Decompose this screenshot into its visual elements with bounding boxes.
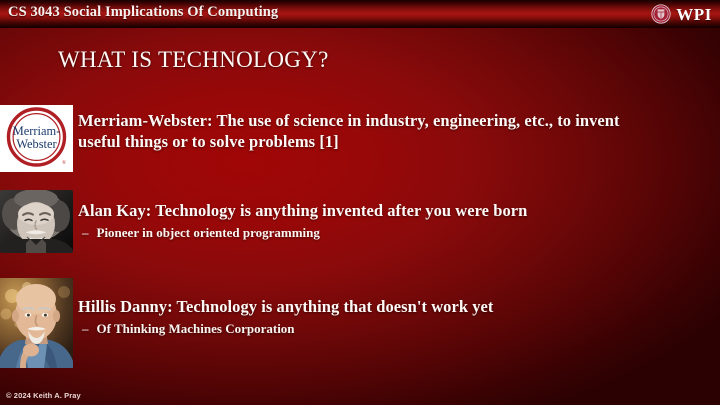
slide-canvas: CS 3043 Social Implications Of Computing… [0, 0, 720, 405]
merriam-webster-logo-icon: Merriam- Webster ® [0, 105, 73, 172]
wpi-logo: WPI [651, 2, 712, 26]
course-title: CS 3043 Social Implications Of Computing [8, 4, 278, 21]
alan-kay-quote-block: Alan Kay: Technology is anything invente… [78, 200, 668, 242]
alan-kay-quote-text: Alan Kay: Technology is anything invente… [78, 200, 668, 221]
merriam-webster-definition-text: Merriam-Webster: The use of science in i… [78, 110, 658, 152]
dash-bullet-icon: – [82, 320, 89, 338]
merriam-webster-definition-block: Merriam-Webster: The use of science in i… [78, 110, 658, 152]
merriam-webster-text-line1: Merriam- [13, 124, 60, 138]
hillis-danny-sub-bullet-text: Of Thinking Machines Corporation [97, 320, 295, 338]
hillis-danny-photo-icon [0, 278, 73, 368]
hillis-danny-quote-text: Hillis Danny: Technology is anything tha… [78, 296, 638, 317]
alan-kay-photo [0, 190, 73, 253]
hillis-danny-quote-block: Hillis Danny: Technology is anything tha… [78, 296, 638, 338]
slide-title: WHAT IS TECHNOLOGY? [58, 47, 329, 73]
dash-bullet-icon: – [82, 224, 89, 242]
copyright-notice: © 2024 Keith A. Pray [6, 391, 81, 400]
hillis-danny-sub-bullet: – Of Thinking Machines Corporation [78, 320, 638, 338]
alan-kay-sub-bullet: – Pioneer in object oriented programming [78, 224, 668, 242]
alan-kay-sub-bullet-text: Pioneer in object oriented programming [97, 224, 320, 242]
merriam-webster-text-line2: Webster [16, 137, 57, 151]
merriam-webster-logo: Merriam- Webster ® [0, 105, 73, 172]
registered-mark: ® [62, 160, 66, 166]
hillis-danny-photo [0, 278, 73, 368]
alan-kay-photo-icon [0, 190, 73, 253]
wpi-wordmark: WPI [676, 6, 712, 23]
slide-header-bar: CS 3043 Social Implications Of Computing… [0, 0, 720, 28]
wpi-seal-icon [651, 4, 671, 24]
